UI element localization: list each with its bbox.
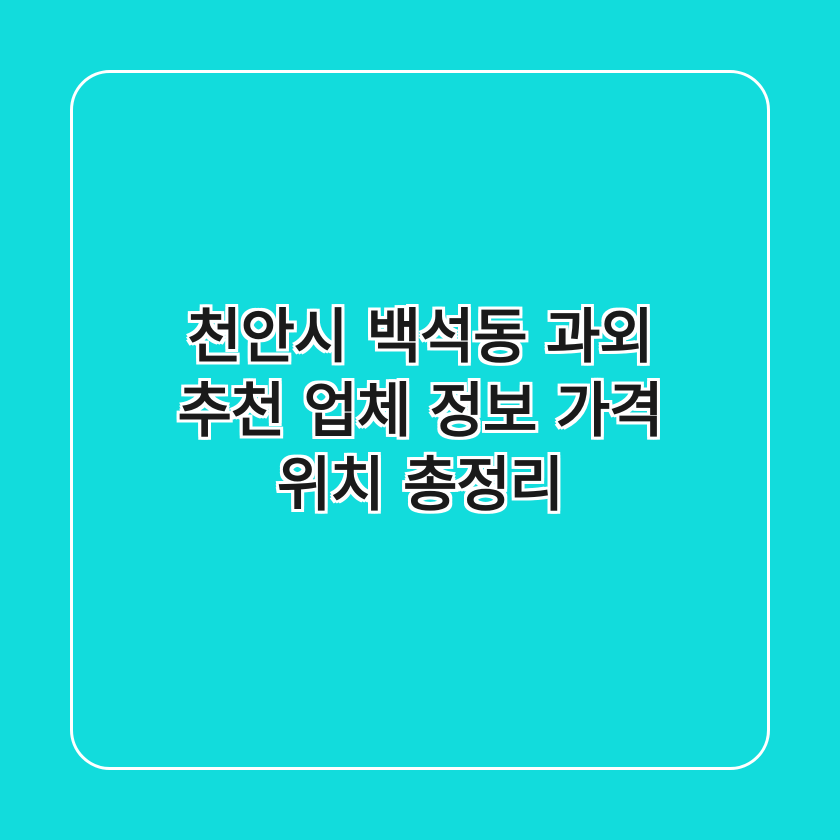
title-block: 천안시 백석동 과외 추천 업체 정보 가격 위치 총정리 — [70, 300, 770, 522]
title-line-1: 천안시 백석동 과외 — [187, 300, 652, 374]
thumbnail-card: 천안시 백석동 과외 추천 업체 정보 가격 위치 총정리 — [0, 0, 840, 840]
title-line-3: 위치 총정리 — [277, 448, 563, 522]
title-line-2: 추천 업체 정보 가격 — [178, 374, 663, 448]
